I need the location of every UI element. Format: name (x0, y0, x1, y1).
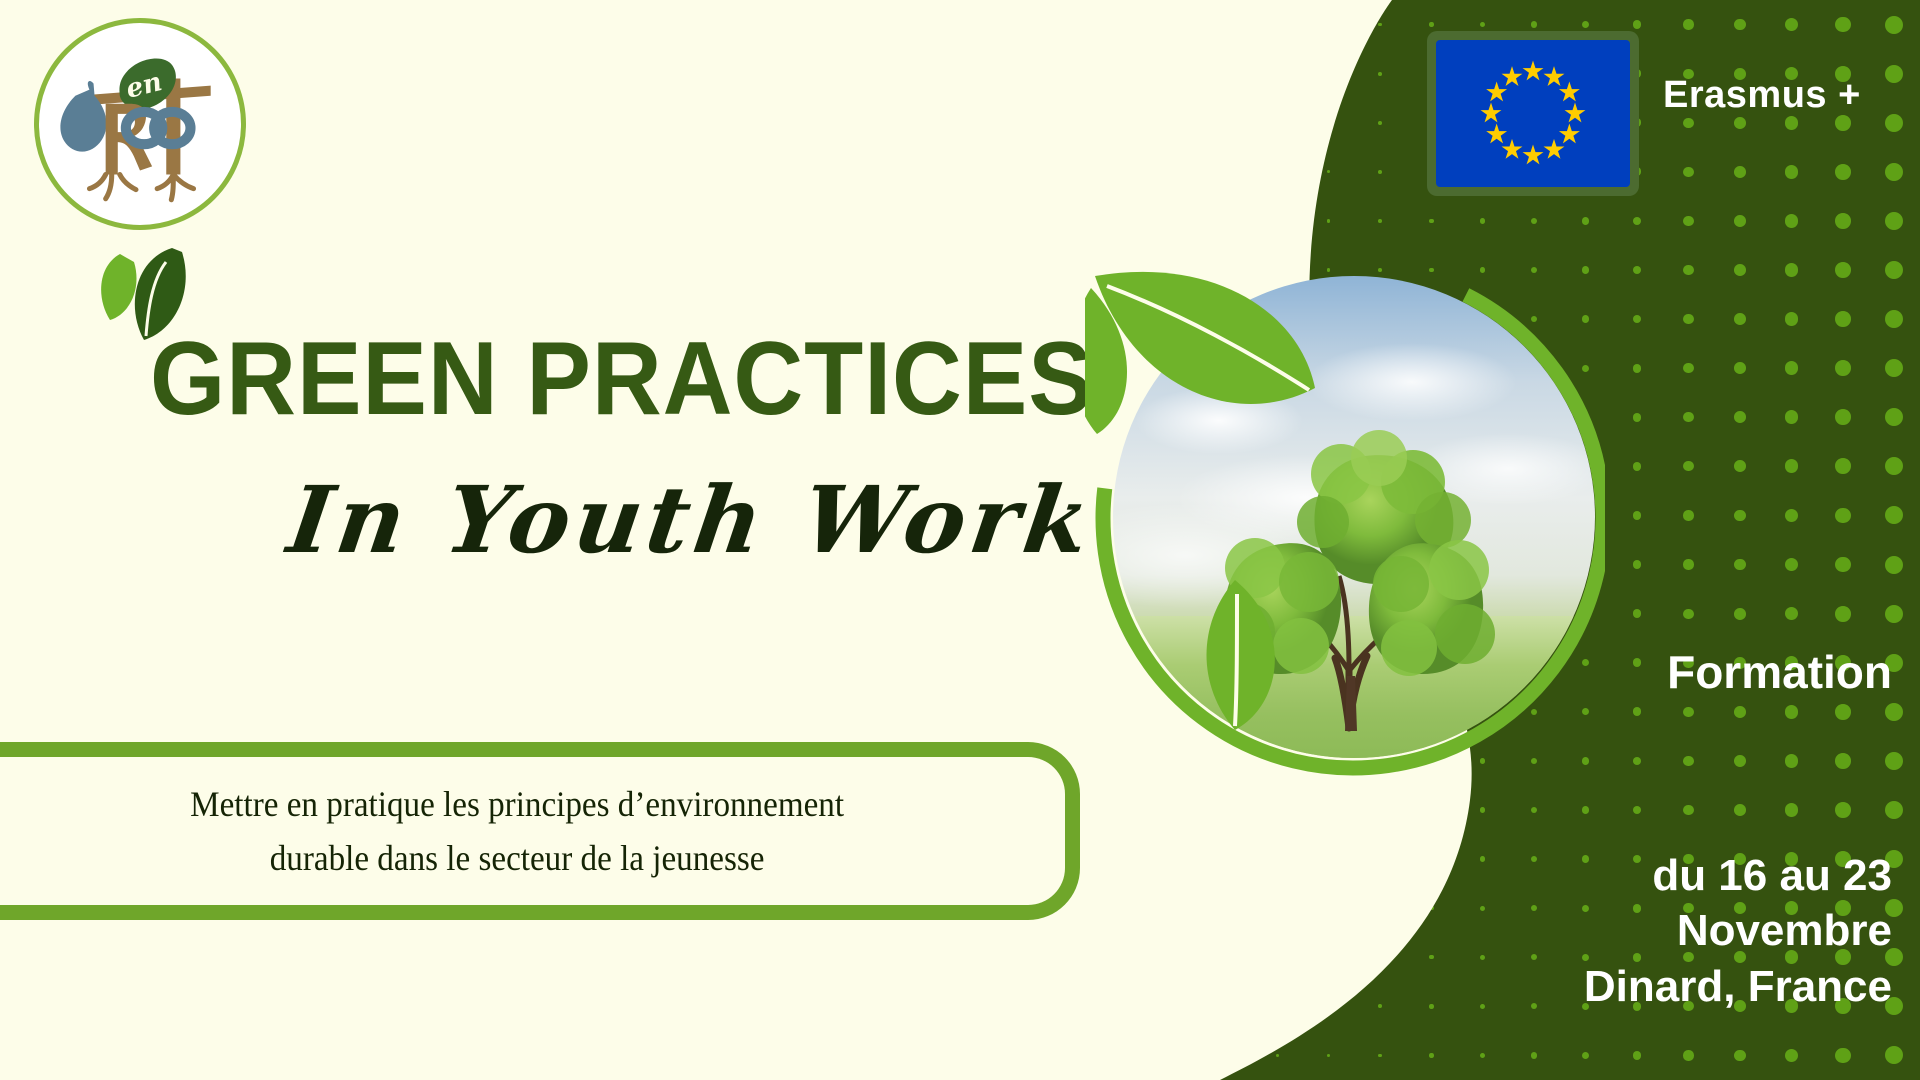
pattern-dot (1327, 1005, 1330, 1008)
pattern-dot (1785, 116, 1799, 130)
pattern-dot (1734, 510, 1746, 522)
pattern-dot (1885, 65, 1903, 83)
pattern-dot (1683, 363, 1693, 373)
pattern-dot (1885, 752, 1903, 770)
pattern-dot (1885, 359, 1903, 377)
pattern-dot (1429, 1053, 1433, 1057)
pattern-dot (1734, 362, 1746, 374)
pattern-dot (1531, 954, 1537, 960)
event-type-label: Formation (1667, 645, 1892, 699)
pattern-dot (1734, 460, 1746, 472)
pattern-dot (1378, 170, 1382, 174)
pattern-dot (1835, 458, 1851, 474)
pattern-dot (1885, 261, 1903, 279)
pattern-dot (1327, 907, 1330, 910)
pattern-dot (1835, 213, 1851, 229)
pattern-dot (1835, 508, 1851, 524)
pattern-dot (1582, 806, 1589, 813)
pattern-dot (1531, 1052, 1537, 1058)
pattern-dot (1276, 23, 1279, 26)
pattern-dot (1276, 1005, 1279, 1008)
pattern-dot (1785, 459, 1799, 473)
pattern-dot (1683, 559, 1693, 569)
pattern-dot (1885, 457, 1903, 475)
pattern-dot (1429, 1004, 1433, 1008)
pattern-dot (1734, 166, 1746, 178)
pattern-dot (1835, 311, 1851, 327)
pattern-dot (1633, 560, 1642, 569)
pattern-dot (1683, 461, 1693, 471)
pattern-dot (1480, 1053, 1485, 1058)
pattern-dot (1531, 856, 1537, 862)
pattern-dot (1582, 1052, 1589, 1059)
pattern-dot (1734, 559, 1746, 571)
pattern-dot (1683, 314, 1693, 324)
event-date-line-1: du 16 au 23 (1584, 848, 1892, 903)
pattern-dot (1378, 955, 1382, 959)
pattern-dot (1531, 807, 1537, 813)
pattern-dot (1276, 956, 1279, 959)
pattern-dot (1835, 409, 1851, 425)
pattern-dot (1885, 1046, 1903, 1064)
pattern-dot (1224, 808, 1227, 811)
pattern-dot (1224, 72, 1227, 75)
eu-star-icon (1559, 82, 1580, 102)
pattern-dot (1531, 21, 1537, 27)
pattern-dot (1480, 22, 1485, 27)
pattern-dot (1327, 857, 1330, 860)
pattern-dot (1785, 509, 1799, 523)
eu-star-icon (1544, 66, 1565, 86)
pattern-dot (1276, 170, 1279, 173)
pattern-dot (1327, 219, 1330, 222)
pattern-dot (1531, 1003, 1537, 1009)
pattern-dot (1885, 212, 1903, 230)
pattern-dot (1885, 114, 1903, 132)
event-location: Dinard, France (1584, 959, 1892, 1014)
pattern-dot (1429, 219, 1433, 223)
pattern-dot (1327, 121, 1330, 124)
pattern-dot (1327, 72, 1330, 75)
pattern-dot (1734, 706, 1746, 718)
pattern-dot (1633, 315, 1642, 324)
pattern-dot (1835, 360, 1851, 376)
eu-star-icon (1559, 124, 1580, 144)
eu-star-icon (1565, 103, 1586, 123)
pattern-dot (1276, 72, 1279, 75)
pattern-dot (1785, 165, 1799, 179)
pattern-dot (1885, 506, 1903, 524)
pattern-dot (1734, 1050, 1746, 1062)
pattern-dot (1785, 214, 1799, 228)
poster-canvas: en GREEN PRACTICES In Youth Work (0, 0, 1920, 1080)
pattern-dot (1835, 557, 1851, 573)
subtitle-line-1: Mettre en pratique les principes d’envir… (190, 777, 844, 831)
pattern-dot (1835, 115, 1851, 131)
pattern-dot (1224, 907, 1227, 910)
recycling-tree-art (1113, 276, 1595, 758)
pattern-dot (1734, 755, 1746, 767)
pattern-dot (1480, 906, 1485, 911)
enroot-logo[interactable]: en (34, 18, 246, 230)
pattern-dot (1683, 756, 1693, 766)
recycling-tree-photo (1113, 276, 1595, 758)
pattern-dot (1531, 218, 1537, 224)
pattern-dot (1785, 361, 1799, 375)
pattern-dot (1835, 17, 1851, 33)
pattern-dot (1276, 1054, 1279, 1057)
pattern-dot (1835, 164, 1851, 180)
pattern-dot (1429, 22, 1433, 26)
pattern-dot (1276, 858, 1279, 861)
pattern-dot (1835, 802, 1851, 818)
pattern-dot (1683, 609, 1693, 619)
pattern-dot (1633, 658, 1642, 667)
eu-star-icon (1502, 66, 1523, 86)
pattern-dot (1633, 413, 1642, 422)
recycling-tree-circle (1085, 262, 1605, 782)
pattern-dot (1224, 1005, 1227, 1008)
pattern-dot (1378, 906, 1382, 910)
pattern-dot (1885, 556, 1903, 574)
pattern-dot (1633, 511, 1642, 520)
pattern-dot (1835, 704, 1851, 720)
pattern-dot (1429, 857, 1433, 861)
pattern-dot (1683, 805, 1693, 815)
enroot-logo-art: en (39, 23, 241, 225)
pattern-dot (1734, 19, 1746, 31)
pattern-dot (1633, 1051, 1642, 1060)
pattern-dot (1885, 703, 1903, 721)
event-details: du 16 au 23 Novembre Dinard, France (1584, 848, 1892, 1014)
pattern-dot (1633, 462, 1642, 471)
european-union-flag (1436, 40, 1630, 187)
pattern-dot (1633, 806, 1642, 815)
pattern-dot (1378, 72, 1382, 76)
pattern-dot (1633, 364, 1642, 373)
pattern-dot (1683, 707, 1693, 717)
pattern-dot (1734, 411, 1746, 423)
pattern-dot (1683, 118, 1693, 128)
pattern-dot (1224, 858, 1227, 861)
eu-star-icon (1486, 124, 1507, 144)
recycle-arrow-left (1215, 538, 1341, 674)
pattern-dot (1734, 313, 1746, 325)
pattern-dot (1224, 170, 1227, 173)
eu-star-icon (1502, 139, 1523, 159)
subtitle-line-2: durable dans le secteur de la jeunesse (190, 831, 844, 885)
pattern-dot (1378, 1004, 1382, 1008)
pattern-dot (1835, 1048, 1851, 1064)
subtitle-text: Mettre en pratique les principes d’envir… (142, 777, 862, 885)
pattern-dot (1378, 219, 1382, 223)
subtitle-box: Mettre en pratique les principes d’envir… (0, 742, 1080, 920)
pattern-dot (1633, 757, 1642, 766)
light-leaf-icon (101, 254, 136, 320)
pattern-dot (1429, 955, 1433, 959)
pattern-dot (1785, 312, 1799, 326)
pattern-dot (1835, 753, 1851, 769)
pattern-dot (1734, 264, 1746, 276)
pattern-dot (1633, 217, 1642, 226)
pattern-dot (1835, 262, 1851, 278)
water-drop-icon (60, 81, 106, 152)
pattern-dot (1480, 955, 1485, 960)
eu-star-icon (1523, 145, 1544, 165)
pattern-dot (1785, 705, 1799, 719)
pattern-dot (1785, 410, 1799, 424)
pattern-dot (1378, 808, 1382, 812)
pattern-dot (1224, 1054, 1227, 1057)
pattern-dot (1327, 170, 1330, 173)
pattern-dot (1734, 804, 1746, 816)
pattern-dot (1480, 218, 1485, 223)
eu-star-icon (1481, 103, 1502, 123)
pattern-dot (1327, 23, 1330, 26)
pattern-dot (1224, 219, 1227, 222)
pattern-dot (1276, 219, 1279, 222)
pattern-dot (1785, 263, 1799, 277)
pattern-dot (1429, 906, 1433, 910)
pattern-dot (1885, 16, 1903, 34)
page-subtitle-script: In Youth Work (283, 474, 1100, 566)
pattern-dot (1429, 808, 1433, 812)
pattern-dot (1327, 808, 1330, 811)
pattern-dot (1582, 21, 1589, 28)
pattern-dot (1378, 23, 1382, 27)
pattern-dot (1633, 266, 1642, 275)
pattern-dot (1785, 1049, 1799, 1063)
pattern-dot (1480, 1004, 1485, 1009)
pattern-dot (1633, 707, 1642, 716)
pattern-dot (1734, 608, 1746, 620)
pattern-dot (1734, 117, 1746, 129)
pattern-dot (1276, 808, 1279, 811)
pattern-dot (1785, 803, 1799, 817)
pattern-dot (1480, 807, 1485, 812)
pattern-dot (1885, 310, 1903, 328)
pattern-dot (1531, 905, 1537, 911)
page-title: GREEN PRACTICES (150, 330, 1094, 430)
pattern-dot (1734, 215, 1746, 227)
pattern-dot (1785, 18, 1799, 32)
pattern-dot (1885, 605, 1903, 623)
pattern-dot (1835, 606, 1851, 622)
eu-star-icon (1523, 61, 1544, 81)
event-date-line-2: Novembre (1584, 903, 1892, 958)
eu-star-icon (1486, 82, 1507, 102)
pattern-dot (1885, 163, 1903, 181)
pattern-dot (1327, 956, 1330, 959)
eu-flag-frame (1427, 31, 1639, 196)
pattern-dot (1224, 23, 1227, 26)
pattern-dot (1683, 412, 1693, 422)
pattern-dot (1885, 408, 1903, 426)
pattern-dot (1480, 856, 1485, 861)
pattern-dot (1785, 607, 1799, 621)
pattern-dot (1683, 167, 1693, 177)
pattern-dot (1683, 510, 1693, 520)
pattern-dot (1276, 121, 1279, 124)
pattern-dot (1378, 857, 1382, 861)
recycle-arrow-right (1369, 540, 1495, 676)
pattern-dot (1633, 20, 1642, 29)
pattern-dot (1378, 121, 1382, 125)
pattern-dot (1683, 1050, 1693, 1060)
pattern-dot (1785, 754, 1799, 768)
pattern-dot (1785, 558, 1799, 572)
pattern-dot (1224, 956, 1227, 959)
pattern-dot (1378, 1054, 1382, 1058)
erasmus-label: Erasmus + (1663, 74, 1861, 117)
pattern-dot (1683, 265, 1693, 275)
pattern-dot (1276, 907, 1279, 910)
pattern-dot (1327, 1054, 1330, 1057)
eu-star-icon (1544, 139, 1565, 159)
pattern-dot (1633, 609, 1642, 618)
pattern-dot (1683, 216, 1693, 226)
pattern-dot (1224, 121, 1227, 124)
pattern-dot (1683, 19, 1693, 29)
pattern-dot (1582, 217, 1589, 224)
pattern-dot (1885, 801, 1903, 819)
eu-stars (1436, 40, 1630, 187)
